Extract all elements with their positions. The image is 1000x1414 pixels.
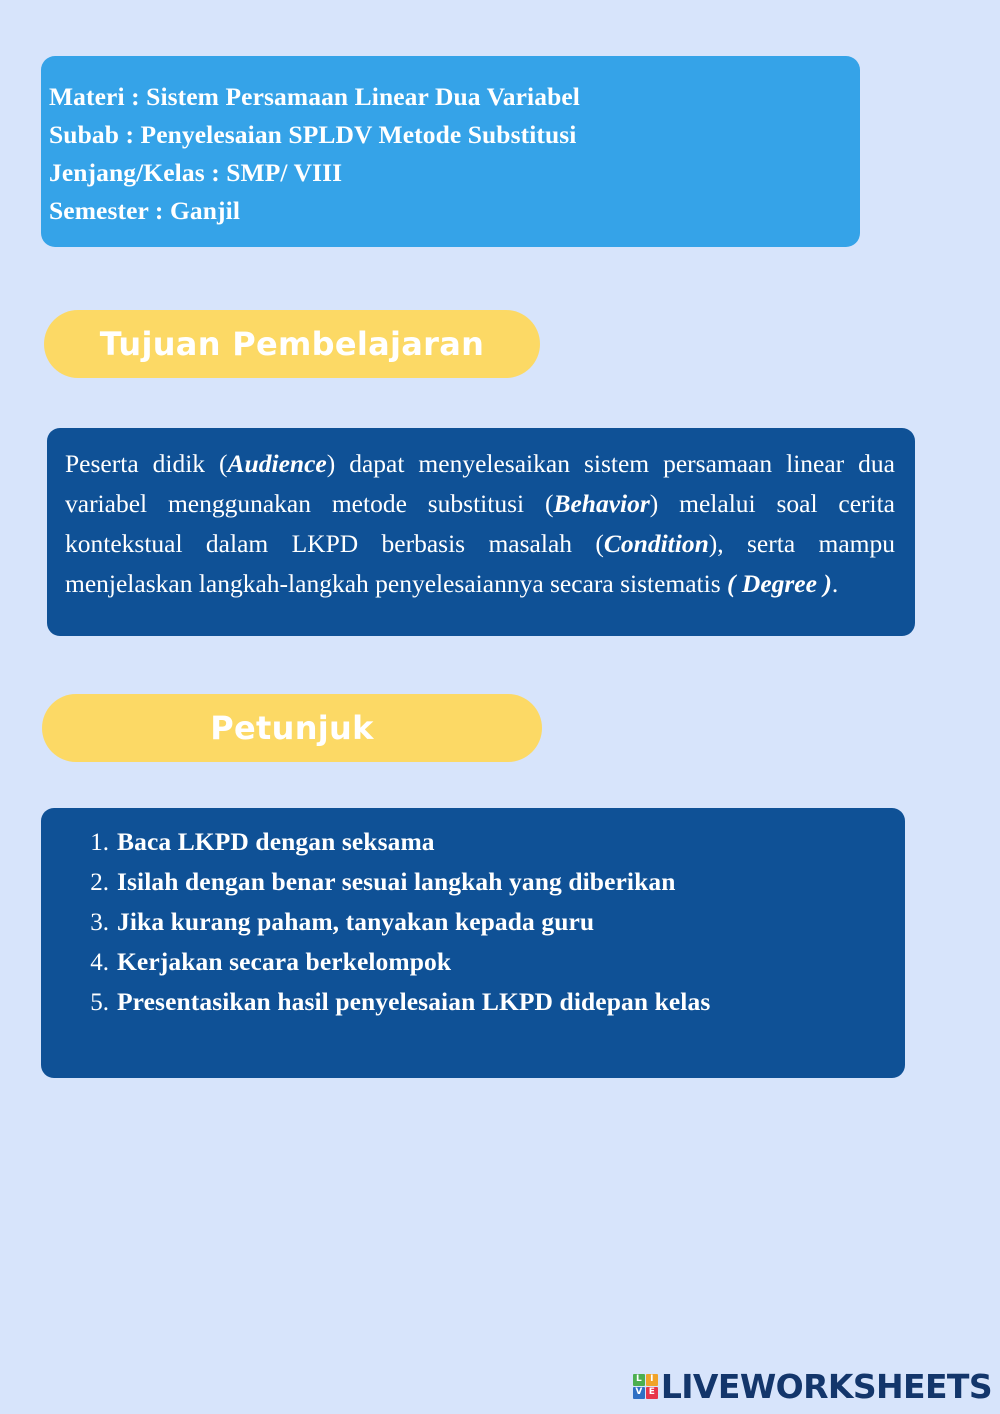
list-item-number: 1.	[73, 823, 117, 862]
instruction-list: 1. Baca LKPD dengan seksama 2. Isilah de…	[41, 822, 905, 1022]
liveworksheets-logo: L I V E LIVEWORKSHEETS	[633, 1366, 992, 1406]
logo-tile-v: V	[633, 1387, 645, 1399]
section-heading-petunjuk: Petunjuk	[42, 694, 542, 762]
section-heading-label: Tujuan Pembelajaran	[100, 328, 484, 360]
instructions-panel: 1. Baca LKPD dengan seksama 2. Isilah de…	[41, 808, 905, 1078]
objective-term-condition: Condition	[604, 529, 709, 558]
logo-tile-e: E	[646, 1387, 658, 1399]
list-item-number: 2.	[73, 863, 117, 902]
header-line-jenjang-kelas: Jenjang/Kelas : SMP/ VIII	[49, 154, 860, 192]
logo-wordmark: LIVEWORKSHEETS	[661, 1370, 992, 1403]
list-item: 4. Kerjakan secara berkelompok	[41, 942, 905, 982]
list-item-number: 4.	[73, 943, 117, 982]
objective-paragraph: Peserta didik (Audience) dapat menyelesa…	[65, 444, 895, 604]
list-item: 1. Baca LKPD dengan seksama	[41, 822, 905, 862]
objective-term-behavior: Behavior	[553, 489, 649, 518]
header-line-subab: Subab : Penyelesaian SPLDV Metode Substi…	[49, 116, 860, 154]
objective-text-part-1: Peserta didik (	[65, 449, 228, 478]
lesson-identity-box: Materi : Sistem Persamaan Linear Dua Var…	[41, 56, 860, 247]
header-line-semester: Semester : Ganjil	[49, 192, 860, 230]
list-item-text: Presentasikan hasil penyelesaian LKPD di…	[117, 982, 710, 1021]
list-item-text: Baca LKPD dengan seksama	[117, 822, 435, 861]
list-item-number: 5.	[73, 983, 117, 1022]
objective-panel: Peserta didik (Audience) dapat menyelesa…	[47, 428, 915, 636]
list-item-text: Isilah dengan benar sesuai langkah yang …	[117, 862, 676, 901]
list-item: 2. Isilah dengan benar sesuai langkah ya…	[41, 862, 905, 902]
list-item-text: Kerjakan secara berkelompok	[117, 942, 451, 981]
logo-tiles-icon: L I V E	[633, 1374, 658, 1399]
list-item: 3. Jika kurang paham, tanyakan kepada gu…	[41, 902, 905, 942]
objective-term-audience: Audience	[228, 449, 327, 478]
objective-text-part-5: .	[832, 569, 838, 598]
objective-term-degree: ( Degree )	[727, 569, 832, 598]
section-heading-tujuan-pembelajaran: Tujuan Pembelajaran	[44, 310, 540, 378]
logo-tile-i: I	[646, 1374, 658, 1386]
header-line-materi: Materi : Sistem Persamaan Linear Dua Var…	[49, 78, 860, 116]
list-item-number: 3.	[73, 903, 117, 942]
list-item-text: Jika kurang paham, tanyakan kepada guru	[117, 902, 594, 941]
section-heading-label: Petunjuk	[210, 712, 373, 744]
list-item: 5. Presentasikan hasil penyelesaian LKPD…	[41, 982, 905, 1022]
logo-tile-l: L	[633, 1374, 645, 1386]
